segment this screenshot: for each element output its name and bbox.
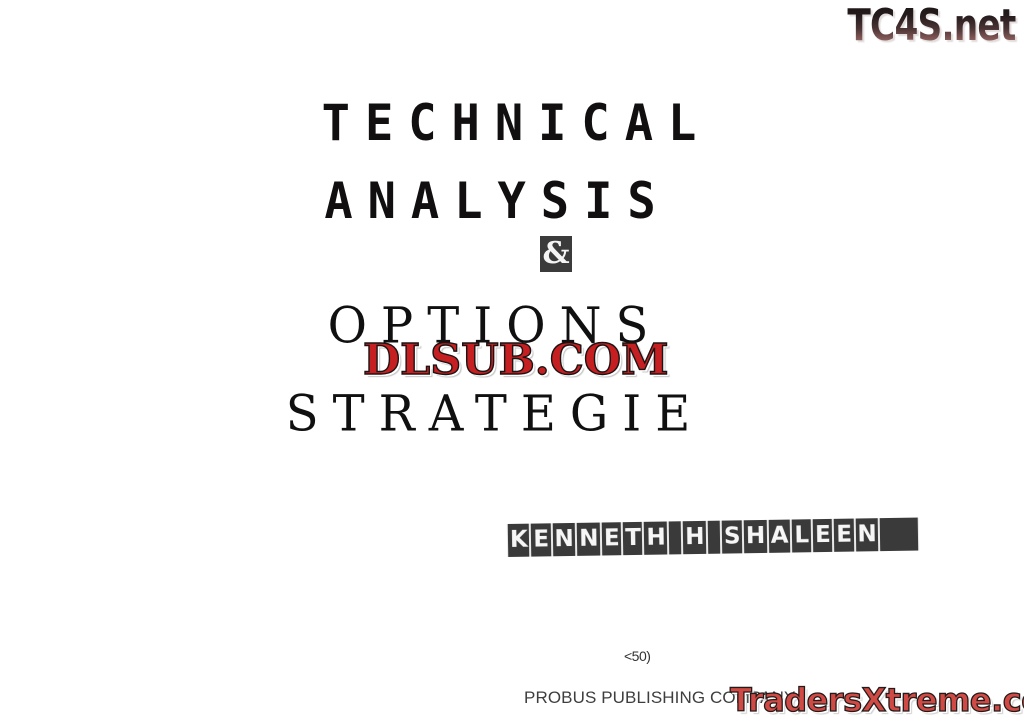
cover-title-line-2: ANALYSIS	[0, 172, 1002, 230]
author-tile-blank	[879, 518, 920, 552]
author-tile: E	[530, 523, 552, 556]
author-name-banner: K E N N E T H H S H A L E E N	[507, 518, 920, 557]
author-tile: E	[833, 519, 855, 552]
author-tile: H	[682, 521, 707, 554]
tc4s-watermark: TC4S.net	[848, 2, 1016, 50]
dlsub-watermark: DLSUB.COM	[363, 338, 669, 382]
author-tile: K	[507, 524, 531, 557]
scan-artifact-text: <50)	[624, 648, 650, 664]
author-tile: H	[643, 521, 668, 554]
author-tile: A	[768, 520, 792, 553]
cover-subtitle-line-2: STRATEGIE	[0, 385, 1000, 443]
author-tile: T	[622, 522, 644, 555]
author-tile: N	[551, 523, 576, 556]
author-tile: L	[791, 519, 813, 552]
author-tile: N	[854, 518, 879, 551]
cover-title-line-1: TECHNICAL	[0, 94, 1021, 152]
author-tile: S	[721, 520, 744, 553]
tradersxtreme-watermark: TradersXtreme.com	[730, 682, 1024, 718]
author-tile: H	[743, 520, 768, 553]
author-tile-space	[668, 521, 683, 554]
author-tile-space	[707, 521, 722, 554]
author-tile: E	[601, 522, 623, 555]
author-tile: N	[576, 523, 601, 556]
author-tile: E	[812, 519, 834, 552]
book-cover-page: TC4S.net TC4S.net TECHNICAL ANALYSIS & O…	[0, 0, 1024, 724]
ampersand-block: &	[540, 236, 572, 272]
